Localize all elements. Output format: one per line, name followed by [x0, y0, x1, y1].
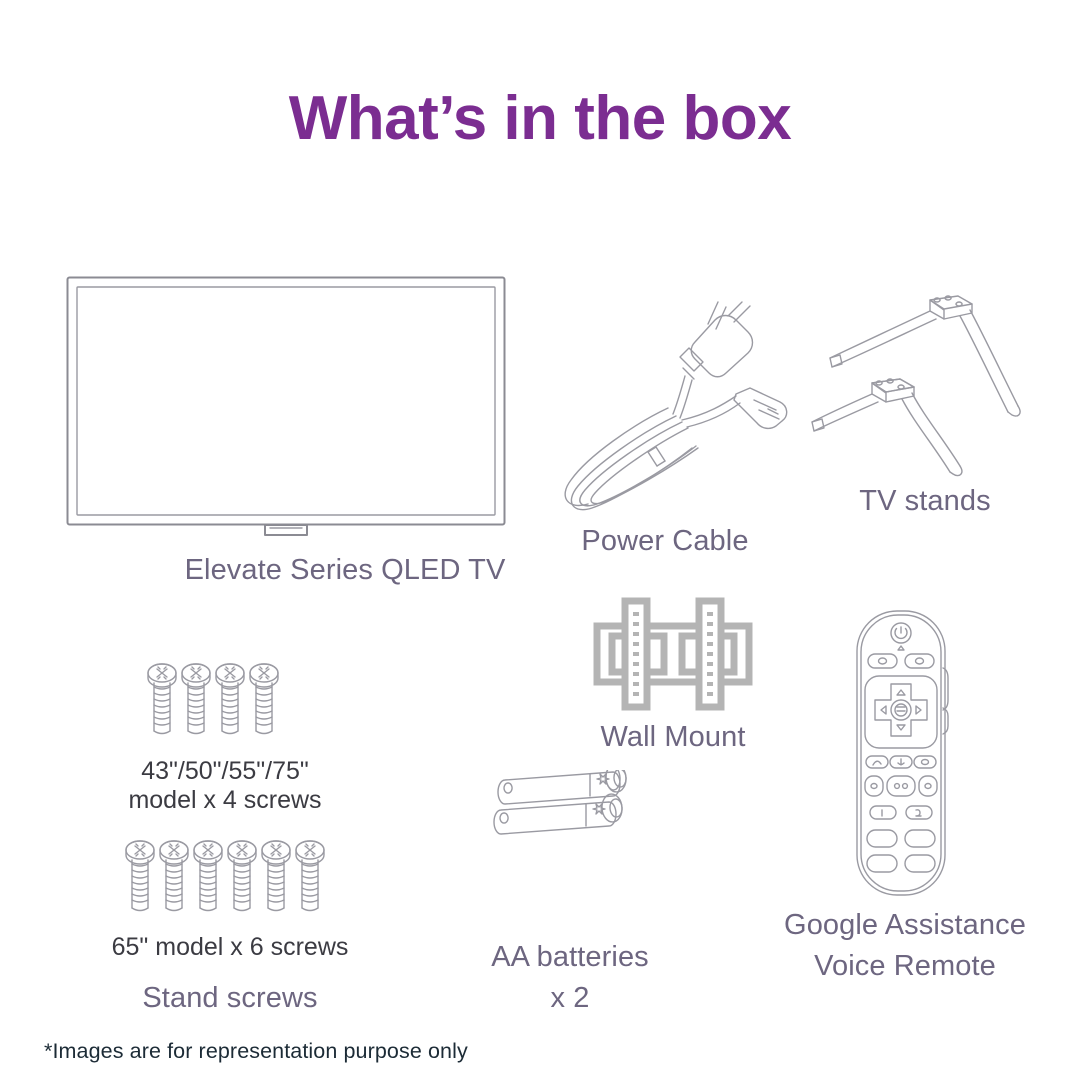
page-title: What’s in the box — [0, 88, 1080, 150]
tv-stands-icon — [810, 288, 1040, 478]
tv-stands-label: TV stands — [780, 484, 1070, 518]
whats-in-the-box-page: What’s in the box Elevate Series QLED TV — [0, 0, 1080, 1080]
batteries-label-line2: x 2 — [420, 981, 720, 1015]
remote-label-line2: Voice Remote — [745, 949, 1065, 983]
batteries-label-line1: AA batteries — [420, 940, 720, 974]
power-cable-icon — [556, 296, 796, 516]
aa-batteries-icon — [486, 770, 656, 890]
stand-screws-label: Stand screws — [40, 981, 420, 1015]
screw-set-4-note-line1: 43"/50"/55"/75" — [60, 756, 390, 787]
screw-set-6 — [124, 840, 336, 928]
remote-label-line1: Google Assistance — [745, 908, 1065, 942]
footnote-text: *Images are for representation purpose o… — [44, 1039, 468, 1064]
wall-mount-label: Wall Mount — [528, 720, 818, 754]
power-cable-label: Power Cable — [495, 524, 835, 558]
screw-set-6-note-line1: 65" model x 6 screws — [40, 932, 420, 963]
tv-icon — [66, 276, 506, 538]
screw-set-4 — [146, 663, 290, 751]
screw-set-4-note-line2: model x 4 screws — [60, 785, 390, 816]
wall-mount-icon — [585, 595, 761, 713]
remote-control-icon — [851, 608, 951, 898]
